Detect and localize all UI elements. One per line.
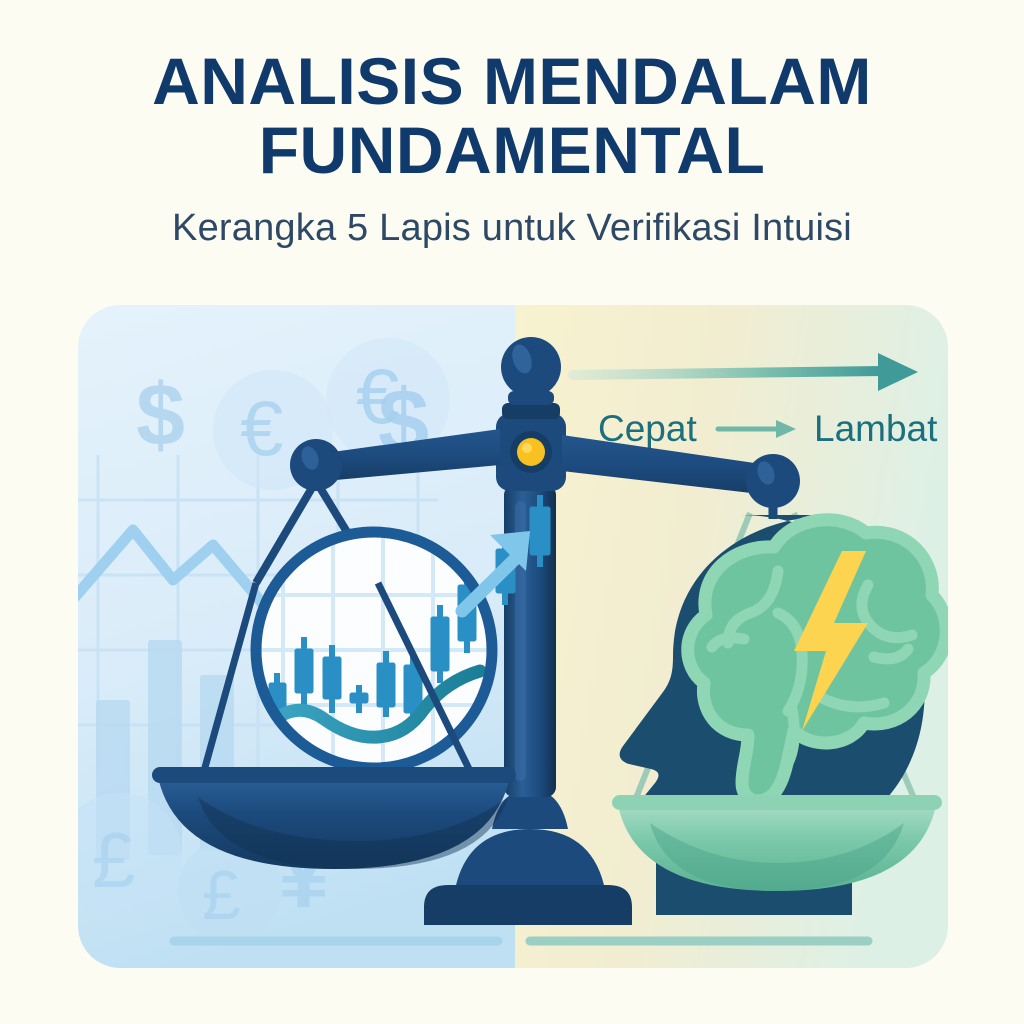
poster-canvas: ANALISIS MENDALAM FUNDAMENTAL Kerangka 5… [0, 0, 1024, 1024]
right-pan-rim [612, 795, 942, 810]
page-subtitle: Kerangka 5 Lapis untuk Verifikasi Intuis… [172, 207, 852, 250]
page-title-line-1: ANALISIS MENDALAM [152, 48, 872, 115]
poster-header: ANALISIS MENDALAM FUNDAMENTAL Kerangka 5… [0, 0, 1024, 300]
illustration-panel: $ € € $ £ £ ¥ Cepat [78, 305, 948, 968]
scale-base-bottom [424, 885, 632, 925]
speed-axis-arrow-shaft [573, 371, 883, 375]
dollar-symbol-1: $ [136, 365, 185, 464]
pivot-screw-gold [517, 438, 545, 466]
pivot-screw-gold-highlight [522, 443, 532, 453]
euro-symbol-1: € [240, 384, 283, 472]
pivot-housing-collar [502, 403, 560, 419]
speed-label-lambat: Lambat [814, 408, 938, 449]
pound-symbol-1: £ [92, 816, 135, 904]
balance-scale-illustration: $ € € $ £ £ ¥ Cepat [78, 305, 948, 968]
pound-symbol-2: £ [202, 856, 241, 934]
page-title-line-2: FUNDAMENTAL [259, 117, 766, 184]
